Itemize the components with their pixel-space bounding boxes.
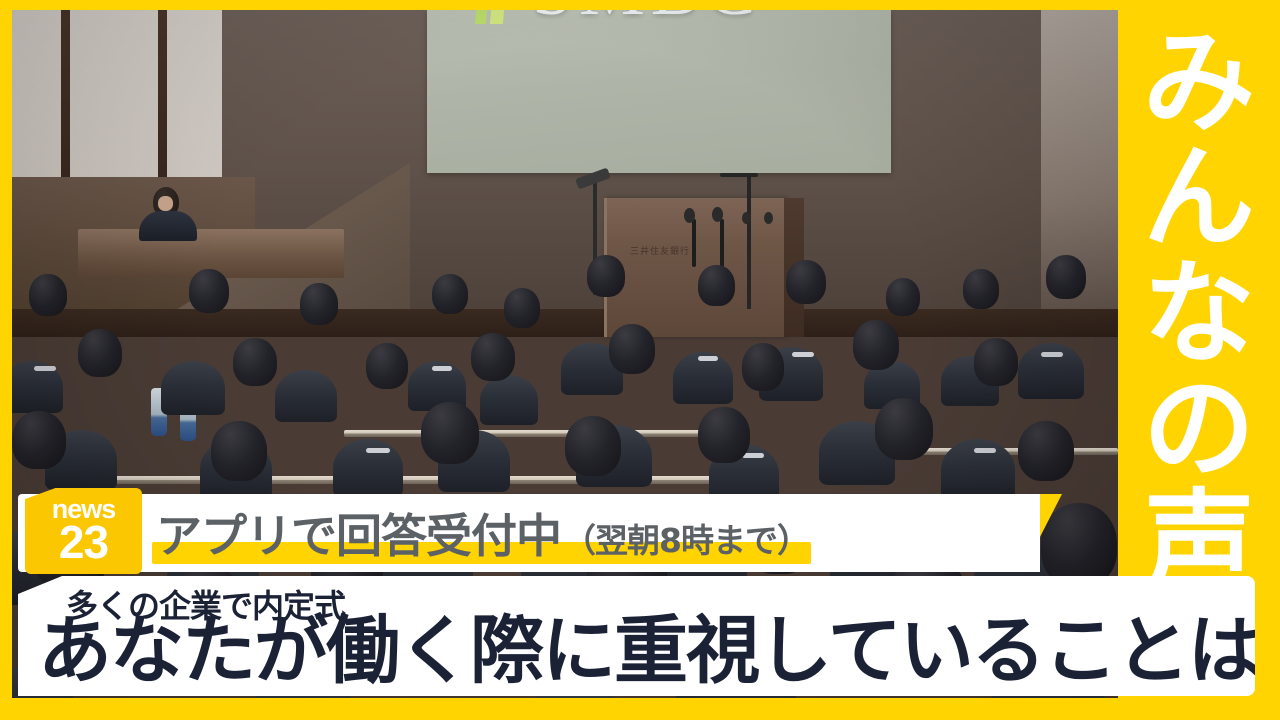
audience-head [786,260,826,304]
audience-head [587,255,625,297]
ticker-note-text: （翌朝8時まで） [563,514,809,562]
ticker-main-text: アプリで回答受付中 [156,500,561,566]
microphone-head-icon [712,207,723,222]
side-banner-char-2: ん [1143,141,1255,256]
speaker-person [139,187,201,239]
audience-head [189,269,229,313]
news23-logo-23: 23 [59,521,108,565]
audience-head [78,329,122,377]
projection-screen: SMBC [427,10,892,173]
lower-third-group: news 23 アプリで回答受付中 （翌朝8時まで） 多くの企業で内定式 あなた… [0,488,1280,720]
audience-head [565,416,621,476]
headline-question: あなたが働く際に重視していることは? [38,614,1280,688]
audience-body [161,361,225,415]
wall-seam [158,10,167,184]
shirt-collar [792,352,814,357]
shirt-collar [974,448,996,453]
audience-head [698,265,735,306]
shirt-collar [34,366,56,371]
audience-body [480,375,538,425]
ticker-text-group: アプリで回答受付中 （翌朝8時まで） [156,500,809,566]
audience-head [963,269,999,309]
audience-head [742,343,784,391]
audience-head [886,278,920,316]
desk-row [344,430,720,437]
audience-head [432,274,468,314]
microphone-head-icon [742,212,751,224]
audience-head [1046,255,1086,299]
audience-head [12,411,66,469]
audience-head [471,333,515,381]
audience-head [609,324,655,374]
smbc-logo: SMBC [478,10,762,33]
wall-seam [61,10,70,184]
shirt-collar [432,366,452,371]
news23-logo: news 23 [25,488,142,574]
mic-boom-arm [720,173,758,177]
audience-head [698,407,750,463]
side-banner-char-1: み [1143,26,1255,141]
smbc-mark-icon [478,10,522,28]
audience-head [300,283,338,325]
shirt-collar [1041,352,1063,357]
audience-head [504,288,540,328]
audience-body [275,370,337,422]
audience-head [29,274,67,316]
broadcast-screen: SMBC 三井住友銀行 [0,0,1280,720]
audience-head [875,398,933,460]
side-banner-char-3: な [1143,257,1255,372]
ticker-bar: news 23 アプリで回答受付中 （翌朝8時まで） [18,494,1040,572]
bottom-yellow-strip [0,698,1280,720]
audience-head [1018,421,1074,481]
shirt-collar [698,356,718,361]
shirt-collar [366,448,390,453]
headline-panel: 多くの企業で内定式 あなたが働く際に重視していることは? [18,576,1255,696]
audience-head [421,402,479,464]
audience-head [233,338,277,386]
smbc-logo-text: SMBC [532,10,762,33]
audience-head [211,421,267,481]
side-banner-char-4: の [1143,372,1255,487]
audience-head [366,343,408,389]
microphone-head-icon [764,212,773,224]
audience-head [974,338,1018,386]
audience-head [853,320,899,370]
